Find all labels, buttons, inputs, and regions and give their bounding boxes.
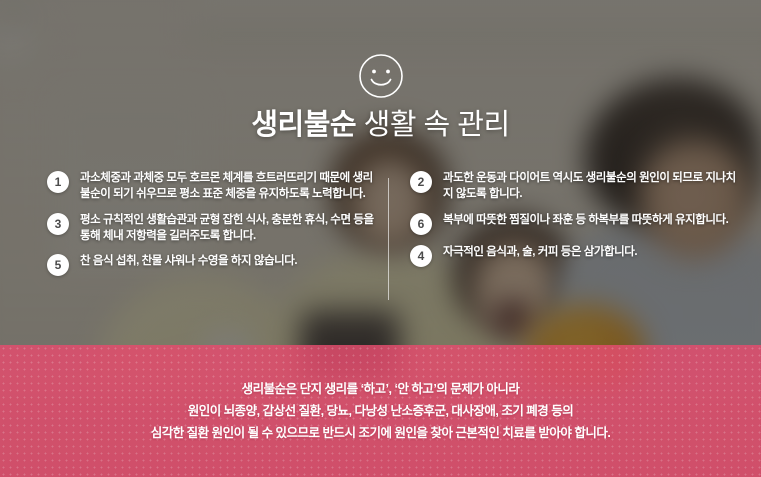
tip-number-badge: 2 [410, 171, 432, 193]
footer-line-1: 생리불순은 단지 생리를 ‘하고’, ‘안 하고’의 문제가 아니라 [151, 378, 611, 400]
tip-number-badge: 5 [47, 254, 69, 276]
tip-text: 평소 규칙적인 생활습관과 균형 잡힌 식사, 충분한 휴식, 수면 등을 통해… [80, 212, 377, 245]
tip-item: 4 자극적인 음식과, 술, 커피 등은 삼가합니다. [410, 244, 740, 267]
footer-banner-text: 생리불순은 단지 생리를 ‘하고’, ‘안 하고’의 문제가 아니라 원인이 뇌… [139, 378, 623, 445]
infographic-root: 생리불순 생활 속 관리 1 과소체중과 과체중 모두 호르몬 체계를 흐트러뜨… [0, 0, 761, 477]
tip-number-badge: 1 [47, 171, 69, 193]
tips-section: 1 과소체중과 과체중 모두 호르몬 체계를 흐트러뜨리기 때문에 생리불순이 … [0, 170, 761, 320]
tips-column-right: 2 과도한 운동과 다이어트 역시도 생리불순의 원인이 되므로 지나치지 않도… [410, 170, 740, 276]
tip-text: 복부에 따뜻한 찜질이나 좌훈 등 하복부를 따뜻하게 유지합니다. [443, 212, 728, 228]
page-title-light: 생활 속 관리 [356, 109, 510, 141]
tip-number-badge: 6 [410, 213, 432, 235]
footer-banner: 생리불순은 단지 생리를 ‘하고’, ‘안 하고’의 문제가 아니라 원인이 뇌… [0, 345, 761, 477]
footer-line-3: 심각한 질환 원인이 될 수 있으므로 반드시 조기에 원인을 찾아 근본적인 … [151, 422, 611, 444]
tips-column-left: 1 과소체중과 과체중 모두 호르몬 체계를 흐트러뜨리기 때문에 생리불순이 … [47, 170, 377, 285]
tip-item: 1 과소체중과 과체중 모두 호르몬 체계를 흐트러뜨리기 때문에 생리불순이 … [47, 170, 377, 203]
tip-number-badge: 4 [410, 245, 432, 267]
column-divider [388, 178, 389, 300]
page-title: 생리불순 생활 속 관리 [0, 110, 761, 142]
tip-item: 6 복부에 따뜻한 찜질이나 좌훈 등 하복부를 따뜻하게 유지합니다. [410, 212, 740, 235]
tip-text: 찬 음식 섭취, 찬물 샤워나 수영을 하지 않습니다. [80, 253, 297, 269]
tip-text: 과도한 운동과 다이어트 역시도 생리불순의 원인이 되므로 지나치지 않도록 … [443, 170, 740, 203]
tip-item: 5 찬 음식 섭취, 찬물 샤워나 수영을 하지 않습니다. [47, 253, 377, 276]
header: 생리불순 생활 속 관리 [0, 52, 761, 142]
tip-number-badge: 3 [47, 213, 69, 235]
page-title-strong: 생리불순 [251, 109, 356, 141]
tip-text: 자극적인 음식과, 술, 커피 등은 삼가합니다. [443, 244, 637, 260]
smiley-face-icon [357, 52, 405, 100]
tip-item: 2 과도한 운동과 다이어트 역시도 생리불순의 원인이 되므로 지나치지 않도… [410, 170, 740, 203]
tip-text: 과소체중과 과체중 모두 호르몬 체계를 흐트러뜨리기 때문에 생리불순이 되기… [80, 170, 377, 203]
tip-item: 3 평소 규칙적인 생활습관과 균형 잡힌 식사, 충분한 휴식, 수면 등을 … [47, 212, 377, 245]
footer-line-2: 원인이 뇌종양, 갑상선 질환, 당뇨, 다낭성 난소증후군, 대사장애, 조기… [151, 400, 611, 422]
